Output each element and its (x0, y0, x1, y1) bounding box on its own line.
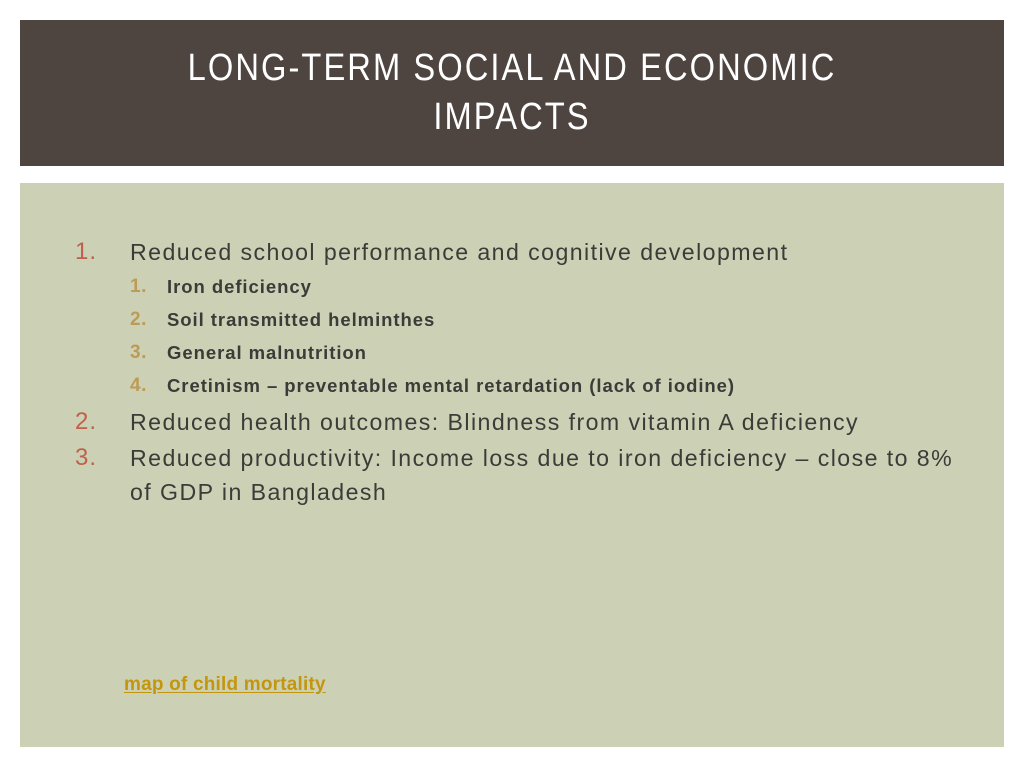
list-number-level1: 1. (75, 235, 117, 269)
list-number-level2: 1. (130, 273, 158, 301)
list-item: 4. Cretinism – preventable mental retard… (130, 372, 980, 400)
outline-list-level2: 1. Iron deficiency 2. Soil transmitted h… (130, 273, 980, 400)
map-of-child-mortality-link[interactable]: map of child mortality (124, 674, 326, 695)
list-item: 3. General malnutrition (130, 339, 980, 367)
list-item: 2. Soil transmitted helminthes (130, 306, 980, 334)
list-item: 1. Reduced school performance and cognit… (57, 235, 980, 400)
list-number-level2: 4. (130, 372, 158, 400)
page-title: Long-term social and economic impacts (123, 44, 900, 141)
list-text-level1: Reduced productivity: Income loss due to… (130, 441, 967, 509)
list-number-level1: 2. (75, 405, 117, 439)
hyperlink-row: map of child mortality (124, 674, 326, 696)
list-text-level2: Iron deficiency (167, 273, 980, 301)
list-item: 2. Reduced health outcomes: Blindness fr… (57, 405, 980, 439)
slide-body-panel: 1. Reduced school performance and cognit… (20, 183, 1004, 747)
list-item: 3. Reduced productivity: Income loss due… (57, 441, 980, 509)
list-text-level2: Cretinism – preventable mental retardati… (167, 372, 980, 400)
outline-content: 1. Reduced school performance and cognit… (57, 235, 980, 511)
list-text-level1: Reduced school performance and cognitive… (130, 235, 967, 269)
list-number-level2: 3. (130, 339, 158, 367)
list-number-level2: 2. (130, 306, 158, 334)
list-item: 1. Iron deficiency (130, 273, 980, 301)
outline-list-level1: 1. Reduced school performance and cognit… (57, 235, 980, 509)
slide: Long-term social and economic impacts 1.… (0, 0, 1024, 768)
list-text-level2: Soil transmitted helminthes (167, 306, 980, 334)
list-text-level2: General malnutrition (167, 339, 980, 367)
list-number-level1: 3. (75, 441, 117, 475)
slide-title-bar: Long-term social and economic impacts (20, 20, 1004, 166)
list-text-level1: Reduced health outcomes: Blindness from … (130, 405, 967, 439)
